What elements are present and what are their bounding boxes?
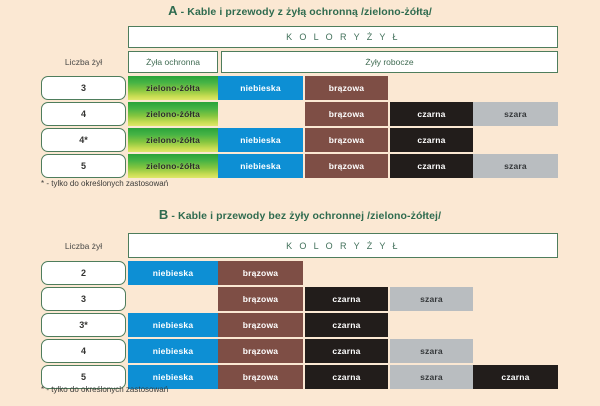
- color-cell-green: zielono-żółta: [128, 128, 218, 152]
- color-cell-blue: niebieska: [218, 128, 303, 152]
- color-cell-black: czarna: [473, 365, 558, 389]
- row-label-section_a-4star: 4*: [41, 128, 126, 152]
- section-b-title-text: - Kable i przewody bez żyły ochronnej /z…: [168, 210, 441, 222]
- color-cell-empty: [128, 287, 218, 311]
- color-cell-empty: [473, 261, 558, 285]
- color-cell-blue: niebieska: [128, 313, 218, 337]
- row-label-section_b-4: 4: [41, 339, 126, 363]
- color-cell-gray: szara: [390, 287, 473, 311]
- color-cell-empty: [305, 261, 388, 285]
- color-cell-gray: szara: [473, 102, 558, 126]
- row-label-header-a: Liczba żył: [41, 51, 126, 73]
- color-cell-brown: brązowa: [218, 339, 303, 363]
- row-label-section_a-5: 5: [41, 154, 126, 178]
- color-cell-green: zielono-żółta: [128, 76, 218, 100]
- color-cell-brown: brązowa: [218, 287, 303, 311]
- color-cell-green: zielono-żółta: [128, 102, 218, 126]
- color-cell-empty: [473, 339, 558, 363]
- color-cell-brown: brązowa: [305, 76, 388, 100]
- section-a-title-text: - Kable i przewody z żyłą ochronną /ziel…: [178, 6, 432, 18]
- row-label-section_b-3: 3: [41, 287, 126, 311]
- row-label-section_a-3: 3: [41, 76, 126, 100]
- color-cell-blue: niebieska: [218, 76, 303, 100]
- color-cell-empty: [390, 261, 473, 285]
- section-a-title: A - Kable i przewody z żyłą ochronną /zi…: [0, 0, 600, 19]
- section-a-letter: A: [168, 3, 178, 18]
- color-cell-black: czarna: [390, 102, 473, 126]
- header-zyla-ochronna: Żyła ochronna: [128, 51, 218, 73]
- color-cell-black: czarna: [305, 365, 388, 389]
- color-cell-empty: [473, 76, 558, 100]
- header-kolory-zyl-b: K O L O R Y Ż Y Ł: [128, 233, 558, 258]
- color-cell-gray: szara: [473, 154, 558, 178]
- color-cell-empty: [473, 287, 558, 311]
- color-cell-green: zielono-żółta: [128, 154, 218, 178]
- color-cell-brown: brązowa: [305, 102, 388, 126]
- section-b-footnote: * - tylko do określonych zastosowań: [41, 385, 168, 394]
- row-label-section_a-4: 4: [41, 102, 126, 126]
- color-cell-blue: niebieska: [218, 154, 303, 178]
- color-cell-gray: szara: [390, 339, 473, 363]
- color-cell-black: czarna: [390, 154, 473, 178]
- color-cell-black: czarna: [305, 287, 388, 311]
- header-kolory-zyl-a: K O L O R Y Ż Y Ł: [128, 26, 558, 48]
- color-cell-brown: brązowa: [218, 313, 303, 337]
- section-a-footnote: * - tylko do określonych zastosowań: [41, 179, 168, 188]
- color-cell-blue: niebieska: [128, 261, 218, 285]
- section-b-title: B - Kable i przewody bez żyły ochronnej …: [0, 204, 600, 223]
- header-zyly-robocze: Żyły robocze: [221, 51, 558, 73]
- color-cell-empty: [390, 313, 473, 337]
- color-cell-brown: brązowa: [305, 154, 388, 178]
- color-cell-gray: szara: [390, 365, 473, 389]
- row-label-section_b-3star: 3*: [41, 313, 126, 337]
- color-cell-empty: [390, 76, 473, 100]
- color-cell-brown: brązowa: [218, 261, 303, 285]
- section-b-letter: B: [159, 207, 169, 222]
- color-cell-empty: [473, 128, 558, 152]
- color-cell-empty: [473, 313, 558, 337]
- row-label-header-b: Liczba żył: [41, 233, 126, 258]
- color-cell-brown: brązowa: [305, 128, 388, 152]
- color-cell-black: czarna: [305, 339, 388, 363]
- color-cell-blue: niebieska: [128, 339, 218, 363]
- row-label-section_b-2: 2: [41, 261, 126, 285]
- color-cell-empty: [218, 102, 303, 126]
- color-cell-black: czarna: [390, 128, 473, 152]
- color-cell-brown: brązowa: [218, 365, 303, 389]
- color-cell-black: czarna: [305, 313, 388, 337]
- section-a: A - Kable i przewody z żyłą ochronną /zi…: [0, 0, 600, 200]
- section-b: B - Kable i przewody bez żyły ochronnej …: [0, 204, 600, 406]
